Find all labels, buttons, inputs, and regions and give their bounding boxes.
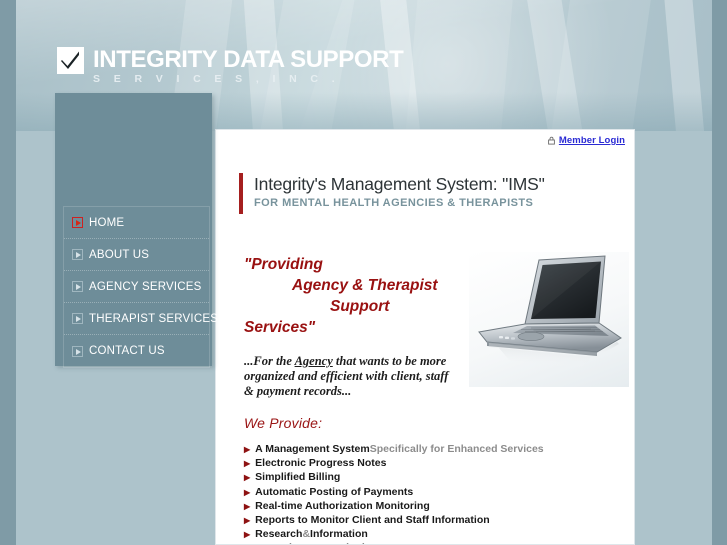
list-item-gray: Specifically for Enhanced Services [370,443,544,455]
left-sidebar-panel: HOME ABOUT US AGENCY SERVICES THERAPIST … [55,93,212,366]
tagline-line-4: Services" [244,317,479,338]
arrow-right-icon [72,346,83,357]
arrow-right-icon [72,249,83,260]
bullet-arrow-icon: ▶ [244,446,250,454]
list-item-bold: Automatic Posting of Payments [255,486,413,498]
list-item: ▶ A Management System Specifically for E… [244,443,624,457]
bullet-arrow-icon: ▶ [244,503,250,511]
list-item: ▶ Real-time Authorization Monitoring [244,500,624,514]
intro-paragraph: ...For the Agency that wants to be more … [244,354,454,399]
list-item-bold: Real-time Authorization Monitoring [255,500,430,512]
logo-primary-text: INTEGRITY DATA SUPPORT [93,48,403,72]
left-gutter [0,0,16,545]
tagline-line-2: Agency & Therapist [244,275,479,296]
list-item: ▶ Simplified Billing [244,471,624,485]
bullet-arrow-icon: ▶ [244,517,250,525]
tagline-block: "Providing Agency & Therapist Support Se… [244,254,479,338]
page-root: INTEGRITY DATA SUPPORT S E R V I C E S ,… [0,0,727,545]
checkmark-icon [57,47,84,74]
list-item-bold: Electronic Progress Notes [255,457,386,469]
list-item: ▶ Reports to Monitor Client and Staff In… [244,514,624,528]
list-item: ▶ Research & Information [244,528,624,542]
right-gutter [712,0,727,545]
bullet-arrow-icon: ▶ [244,460,250,468]
intro-underlined-word: Agency [295,354,333,368]
sidebar-item-label: THERAPIST SERVICES [89,313,218,325]
member-login-link[interactable]: Member Login [547,135,625,146]
page-title: Integrity's Management System: "IMS" [254,173,545,195]
sidebar-item-agency-services[interactable]: AGENCY SERVICES [64,271,209,303]
sidebar-item-contact-us[interactable]: CONTACT US [64,335,209,367]
list-item-gray: & [302,528,310,540]
list-item-bold: Reports to Monitor Client and Staff Info… [255,514,490,526]
list-item-bold: Research [255,528,302,540]
list-item: ▶ Automatic Posting of Payments [244,486,624,500]
member-login-label: Member Login [559,135,625,146]
features-list: ▶ A Management System Specifically for E… [244,443,624,545]
arrow-right-icon [72,217,83,228]
tagline-line-1: "Providing [244,254,479,275]
list-item-bold: A Management System [255,443,370,455]
laptop-photo [469,252,629,387]
site-logo[interactable]: INTEGRITY DATA SUPPORT S E R V I C E S ,… [57,47,403,85]
list-item-bold-2: Information [310,528,368,540]
tagline-line-3: Support [244,296,479,317]
sidebar-item-home[interactable]: HOME [64,207,209,239]
intro-pre: ...For the [244,354,295,368]
sidebar-item-about-us[interactable]: ABOUT US [64,239,209,271]
page-title-block: Integrity's Management System: "IMS" FOR… [239,173,545,214]
list-item-bold: Simplified Billing [255,471,340,483]
sidebar-item-label: AGENCY SERVICES [89,281,202,293]
arrow-right-icon [72,313,83,324]
main-navigation: HOME ABOUT US AGENCY SERVICES THERAPIST … [63,206,210,368]
bullet-arrow-icon: ▶ [244,531,250,539]
sidebar-item-label: ABOUT US [89,249,149,261]
page-subtitle: FOR MENTAL HEALTH AGENCIES & THERAPISTS [254,197,545,209]
arrow-right-icon [72,281,83,292]
sidebar-item-therapist-services[interactable]: THERAPIST SERVICES [64,303,209,335]
list-item: ▶ Electronic Progress Notes [244,457,624,471]
sidebar-item-label: CONTACT US [89,345,165,357]
main-content-panel: Member Login Integrity's Management Syst… [215,129,635,545]
lock-icon [547,136,556,145]
we-provide-heading: We Provide: [244,415,322,431]
bullet-arrow-icon: ▶ [244,474,250,482]
bullet-arrow-icon: ▶ [244,489,250,497]
sidebar-item-label: HOME [89,217,124,229]
logo-secondary-text: S E R V I C E S , I N C . [93,74,403,85]
